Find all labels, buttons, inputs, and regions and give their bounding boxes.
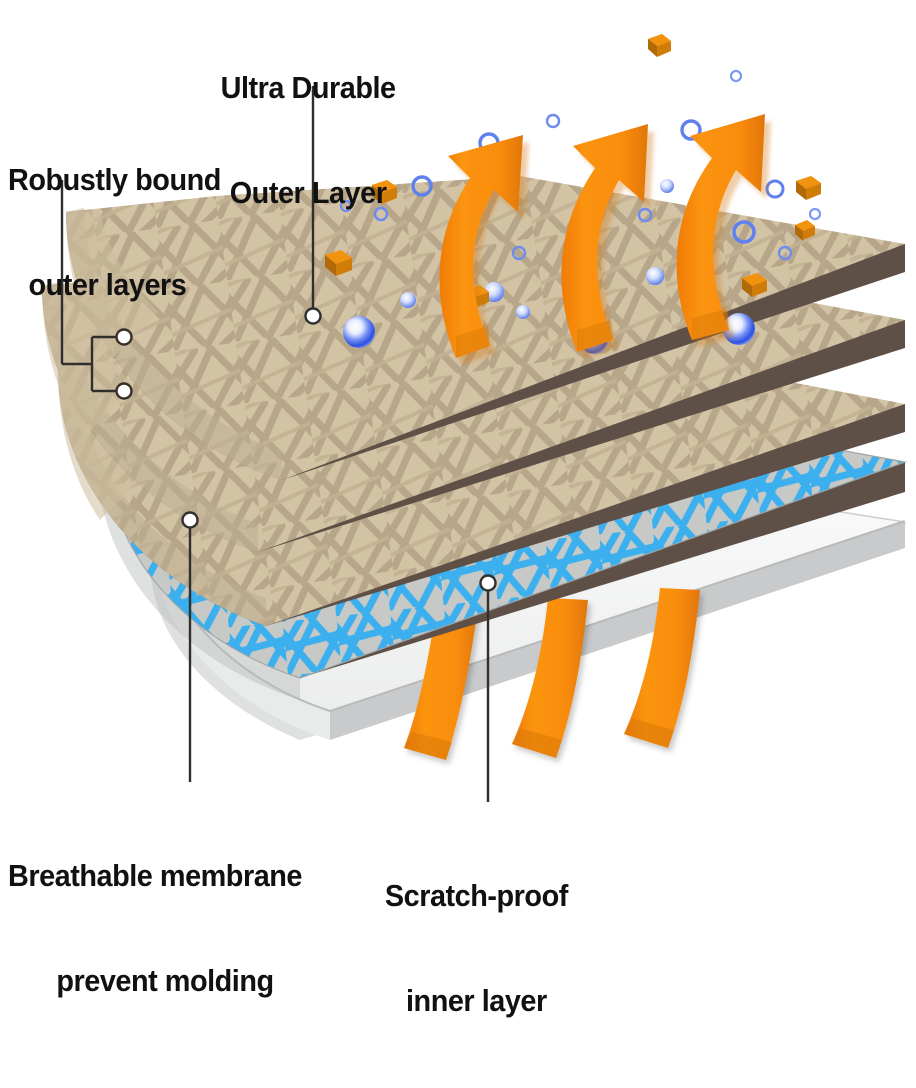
callout-scratch-proof-inner-layer: Scratch-proof inner layer xyxy=(385,810,568,1088)
callout-ultra-durable-outer-layer: Ultra Durable Outer Layer xyxy=(221,2,396,280)
callout-breathable-membrane-prevent-molding: Breathable membrane prevent molding xyxy=(8,790,302,1068)
callout-line-1: Robustly bound xyxy=(8,163,221,198)
callout-line-2: inner layer xyxy=(385,984,568,1019)
bubble xyxy=(660,179,674,193)
bubble xyxy=(516,305,530,319)
bubble xyxy=(343,316,375,348)
callout-robustly-bound-outer-layers: Robustly bound outer layers xyxy=(8,94,221,372)
callout-line-1: Breathable membrane xyxy=(8,859,302,894)
callout-line-2: outer layers xyxy=(8,268,221,303)
bubble xyxy=(646,267,664,285)
bubble xyxy=(400,292,416,308)
diagram-canvas: Ultra Durable Outer Layer Robustly bound… xyxy=(0,0,916,902)
callout-line-2: prevent molding xyxy=(8,964,302,999)
callout-line-1: Ultra Durable xyxy=(221,71,396,106)
callout-line-1: Scratch-proof xyxy=(385,879,568,914)
callout-line-2: Outer Layer xyxy=(221,176,396,211)
